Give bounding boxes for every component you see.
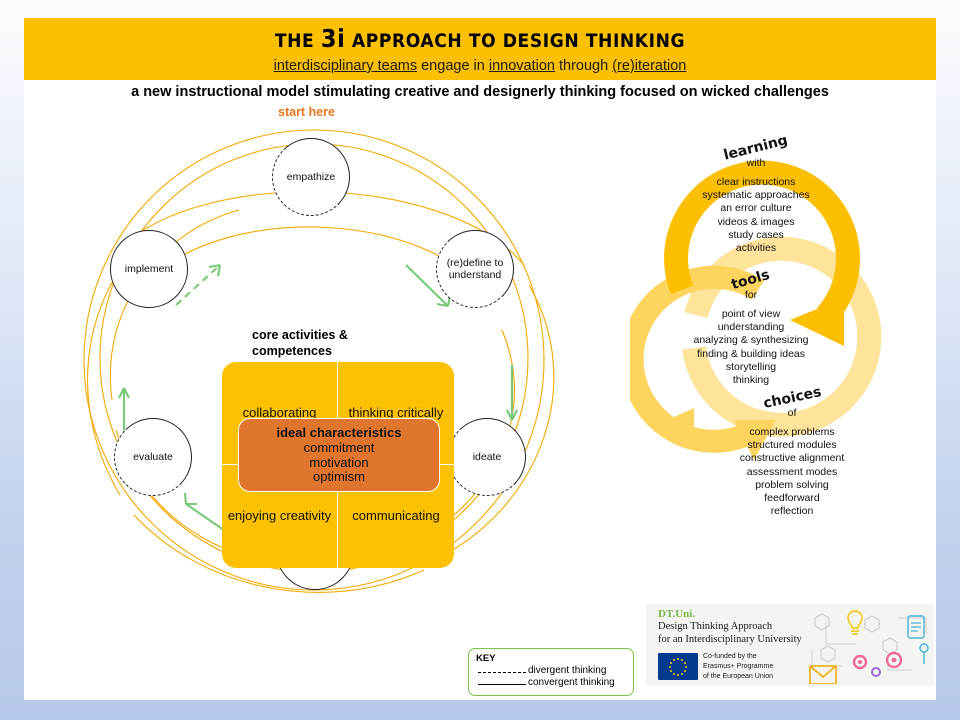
- choices-item-2: constructive alignment: [704, 452, 880, 465]
- logo-brand: DT.Uni.: [658, 608, 802, 620]
- learning-tools-choices-spirals: learning with clear instructions systema…: [630, 120, 930, 590]
- key-row-convergent: convergent thinking: [476, 677, 626, 688]
- eu-caption-line-3: of the European Union: [703, 672, 773, 682]
- page-title: THE 3i APPROACH TO DESIGN THINKING: [275, 24, 685, 53]
- node-empathize[interactable]: empathize: [272, 138, 350, 216]
- logo-illustration: [802, 604, 952, 686]
- tools-item-2: analyzing & synthesizing: [666, 334, 836, 347]
- ideal-item-motivation: motivation: [309, 456, 368, 471]
- node-redefine[interactable]: (re)define to understand: [436, 230, 514, 308]
- header-band: THE 3i APPROACH TO DESIGN THINKING inter…: [24, 18, 936, 80]
- quadrant-communicating-label: communicating: [352, 509, 439, 524]
- node-evaluate[interactable]: evaluate: [114, 418, 192, 496]
- pin-icon: [920, 644, 928, 652]
- logo-line-1: Design Thinking Approach: [658, 620, 802, 633]
- learning-item-5: activities: [676, 242, 836, 255]
- subtitle-through: through: [555, 58, 612, 74]
- learning-item-2: an error culture: [676, 202, 836, 215]
- subtitle-engage: engage in: [417, 58, 489, 74]
- solid-line-icon: [476, 677, 528, 688]
- node-redefine-label: (re)define to understand: [437, 257, 513, 281]
- key-row-divergent: divergent thinking: [476, 665, 626, 676]
- quadrant-enjoying-creativity-label: enjoying creativity: [228, 509, 331, 524]
- spiral-tools-prep: for: [666, 289, 836, 301]
- choices-item-1: structured modules: [704, 439, 880, 452]
- eu-stars: [668, 657, 688, 677]
- subtitle-interdisciplinary: interdisciplinary teams: [274, 58, 417, 74]
- spiral-choices: choices of complex problems structured m…: [704, 390, 880, 519]
- tools-item-3: finding & building ideas: [666, 348, 836, 361]
- infographic-canvas: THE 3i APPROACH TO DESIGN THINKING inter…: [0, 0, 960, 720]
- choices-item-0: complex problems: [704, 426, 880, 439]
- eu-caption-line-2: Erasmus+ Programme: [703, 662, 773, 672]
- learning-item-1: systematic approaches: [676, 189, 836, 202]
- spiral-learning-items: clear instructions systematic approaches…: [676, 176, 836, 255]
- learning-item-3: videos & images: [676, 216, 836, 229]
- tools-item-1: understanding: [666, 321, 836, 334]
- ideal-characteristics-title: ideal characteristics: [276, 425, 401, 440]
- spiral-learning-prep: with: [676, 157, 836, 169]
- lightbulb-icon: [848, 611, 862, 634]
- spiral-choices-kicker: choices: [704, 390, 880, 406]
- node-empathize-label: empathize: [283, 171, 339, 183]
- core-activities-heading: core activities & competences: [252, 328, 422, 359]
- node-implement[interactable]: implement: [110, 230, 188, 308]
- tools-item-0: point of view: [666, 308, 836, 321]
- spiral-learning: learning with clear instructions systema…: [676, 140, 836, 255]
- node-evaluate-label: evaluate: [129, 451, 177, 463]
- eu-funding-badge: Co-funded by the Erasmus+ Programme of t…: [658, 652, 802, 682]
- gear-icon: [854, 656, 866, 668]
- eu-flag-icon: [658, 653, 698, 680]
- learning-item-0: clear instructions: [676, 176, 836, 189]
- ideal-item-commitment: commitment: [304, 441, 375, 456]
- key-legend: KEY divergent thinking convergent thinki…: [468, 648, 634, 696]
- eu-caption: Co-funded by the Erasmus+ Programme of t…: [703, 652, 773, 682]
- process-cycle-diagram: empathize (re)define to understand ideat…: [24, 100, 644, 620]
- choices-item-6: reflection: [704, 505, 880, 518]
- spiral-learning-kicker: learning: [676, 140, 836, 156]
- project-logo: DT.Uni. Design Thinking Approach for an …: [646, 604, 934, 686]
- spiral-tools-kicker: tools: [666, 272, 836, 288]
- ideal-item-optimism: optimism: [313, 470, 365, 485]
- learning-item-4: study cases: [676, 229, 836, 242]
- eu-caption-line-1: Co-funded by the: [703, 652, 773, 662]
- subtitle-reiteration: (re)iteration: [612, 58, 686, 74]
- page-subtitle: a new instructional model stimulating cr…: [24, 84, 936, 100]
- logo-text-block: DT.Uni. Design Thinking Approach for an …: [658, 608, 802, 682]
- key-convergent-label: convergent thinking: [528, 677, 615, 688]
- title-pre: THE: [275, 30, 321, 52]
- ideal-characteristics-box: ideal characteristics commitment motivat…: [238, 418, 440, 492]
- spiral-tools: tools for point of view understanding an…: [666, 272, 836, 387]
- spiral-tools-items: point of view understanding analyzing & …: [666, 308, 836, 387]
- logo-line-2: for an Interdisciplinary University: [658, 633, 802, 646]
- choices-item-5: feedforward: [704, 492, 880, 505]
- title-3i: 3i: [321, 24, 346, 53]
- spiral-choices-items: complex problems structured modules cons…: [704, 426, 880, 519]
- key-title: KEY: [476, 653, 626, 664]
- node-implement-label: implement: [121, 263, 177, 275]
- core-activities-panel: collaborating thinking critically enjoyi…: [222, 362, 454, 568]
- node-ideate-label: ideate: [469, 451, 506, 463]
- dashed-line-icon: [476, 665, 528, 676]
- choices-item-4: problem solving: [704, 479, 880, 492]
- logo-icons: [802, 604, 952, 684]
- node-ideate[interactable]: ideate: [448, 418, 526, 496]
- hexagon-icon: [815, 614, 829, 630]
- subtitle-innovation: innovation: [489, 58, 555, 74]
- spiral-choices-prep: of: [704, 407, 880, 419]
- header-subtitle: interdisciplinary teams engage in innova…: [274, 58, 687, 74]
- tools-item-4: storytelling: [666, 361, 836, 374]
- choices-item-3: assessment modes: [704, 466, 880, 479]
- title-post: APPROACH TO DESIGN THINKING: [345, 30, 685, 52]
- key-divergent-label: divergent thinking: [528, 665, 606, 676]
